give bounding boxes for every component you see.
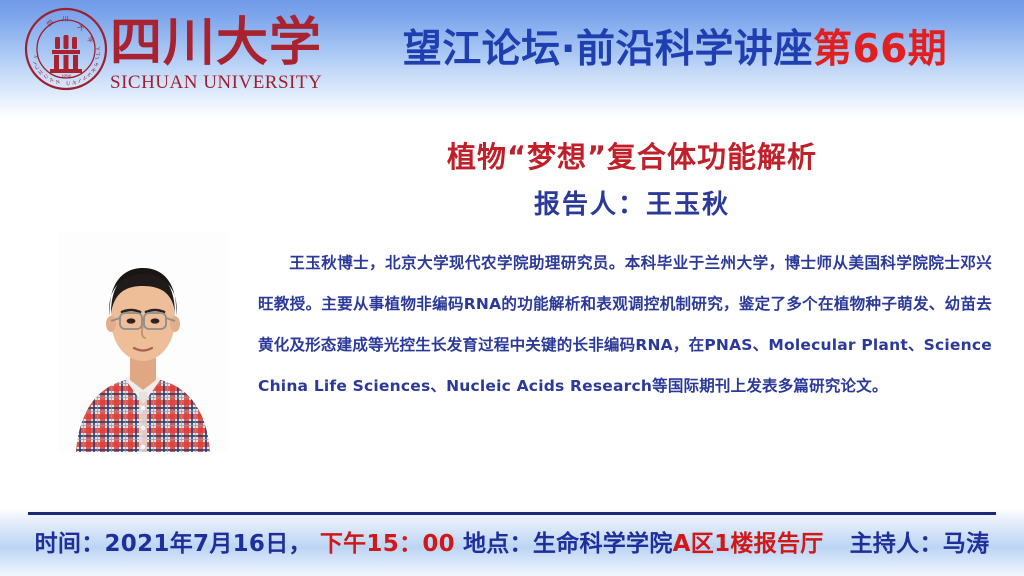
lecture-title: 植物“梦想”复合体功能解析 bbox=[262, 134, 1002, 176]
footer-divider bbox=[28, 512, 996, 515]
place-highlight: A区1楼报告厅 bbox=[673, 531, 824, 557]
svg-text:A: A bbox=[49, 77, 55, 84]
university-logo-lockup: 四 川 大 学 1896 S I C H U A N U N I V bbox=[14, 4, 314, 104]
svg-text:S: S bbox=[33, 55, 40, 60]
place-prefix: 生命科学学院 bbox=[533, 531, 673, 557]
time-label: 时间： bbox=[35, 531, 105, 557]
university-wordmark-cn-icon: 四川大学 bbox=[110, 10, 320, 72]
event-date: 2021年7月16日， bbox=[105, 531, 312, 557]
university-wordmark-en: SICHUAN UNIVERSITY bbox=[110, 72, 322, 94]
svg-text:N: N bbox=[55, 79, 60, 86]
series-title: 望江论坛·前沿科学讲座第66期 bbox=[340, 18, 1010, 74]
speaker-line: 报告人：王玉秋 bbox=[262, 184, 1002, 221]
wordmark-cn-text: 四川大学 bbox=[110, 13, 320, 72]
footer-details: 时间：2021年7月16日，下午15：00地点：生命科学学院A区1楼报告厅主持人… bbox=[20, 524, 1004, 558]
series-title-main: 望江论坛·前沿科学讲座 bbox=[403, 27, 813, 72]
svg-text:1896: 1896 bbox=[61, 74, 72, 80]
svg-text:川: 川 bbox=[62, 15, 69, 23]
svg-text:Y: Y bbox=[94, 47, 100, 51]
svg-text:S: S bbox=[92, 62, 99, 68]
host-label: 主持人： bbox=[850, 531, 943, 557]
speaker-photo bbox=[58, 232, 228, 452]
speaker-biography: 王玉秋博士，北京大学现代农学院助理研究员。本科毕业于兰州大学，博士师从美国科学院… bbox=[258, 243, 992, 407]
lecture-poster: 四 川 大 学 1896 S I C H U A N U N I V bbox=[0, 0, 1024, 576]
speaker-biography-text: 王玉秋博士，北京大学现代农学院助理研究员。本科毕业于兰州大学，博士师从美国科学院… bbox=[258, 254, 992, 395]
place-label: 地点： bbox=[463, 531, 533, 557]
sichuan-university-seal-icon: 四 川 大 学 1896 S I C H U A N U N I V bbox=[24, 7, 108, 91]
series-title-issue: 第66期 bbox=[813, 27, 947, 72]
host-name: 马涛 bbox=[943, 531, 990, 557]
event-time: 下午15：00 bbox=[320, 531, 455, 557]
svg-text:N: N bbox=[72, 80, 77, 87]
svg-text:U: U bbox=[66, 81, 70, 87]
